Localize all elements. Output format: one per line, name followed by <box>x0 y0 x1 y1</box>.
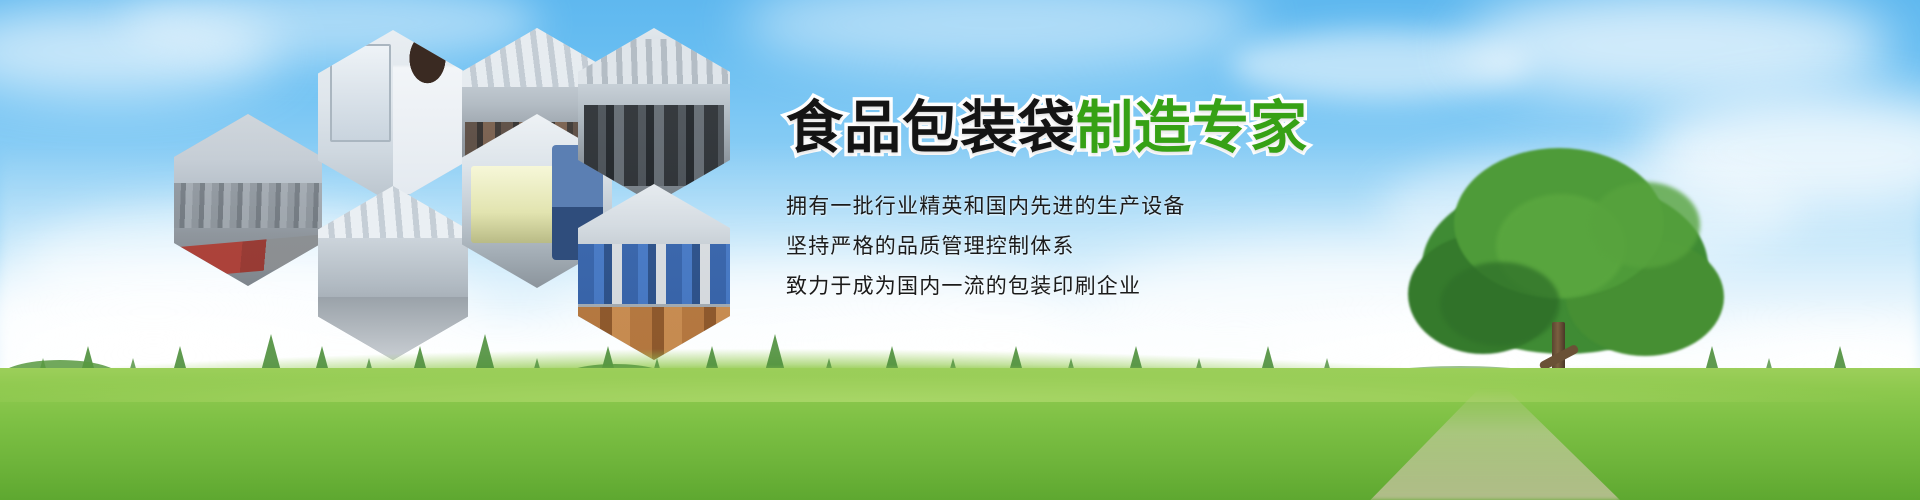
hero-subline: 坚持严格的品质管理控制体系 <box>786 226 1486 266</box>
grass-field <box>0 368 1920 500</box>
hex-photo <box>174 114 322 286</box>
headline-primary: 食品包装袋 <box>786 95 1076 161</box>
cloud-shape <box>740 0 1260 72</box>
tree-canopy <box>1590 182 1700 268</box>
tree-canopy <box>1440 262 1560 346</box>
hex-tile-warehouse-forklift[interactable] <box>174 114 322 286</box>
hero-copy: 食品包装袋制造专家 拥有一批行业精英和国内先进的生产设备 坚持严格的品质管理控制… <box>786 96 1486 306</box>
headline-accent: 制造专家 <box>1076 95 1308 161</box>
hero-banner: 食品包装袋制造专家 拥有一批行业精英和国内先进的生产设备 坚持严格的品质管理控制… <box>0 0 1920 500</box>
page-title: 食品包装袋制造专家 <box>786 96 1486 160</box>
hero-subline: 拥有一批行业精英和国内先进的生产设备 <box>786 186 1486 226</box>
cloud-shape <box>1460 0 1890 100</box>
hex-photo <box>318 30 468 204</box>
hex-tile-lab-inspection[interactable] <box>318 30 468 204</box>
